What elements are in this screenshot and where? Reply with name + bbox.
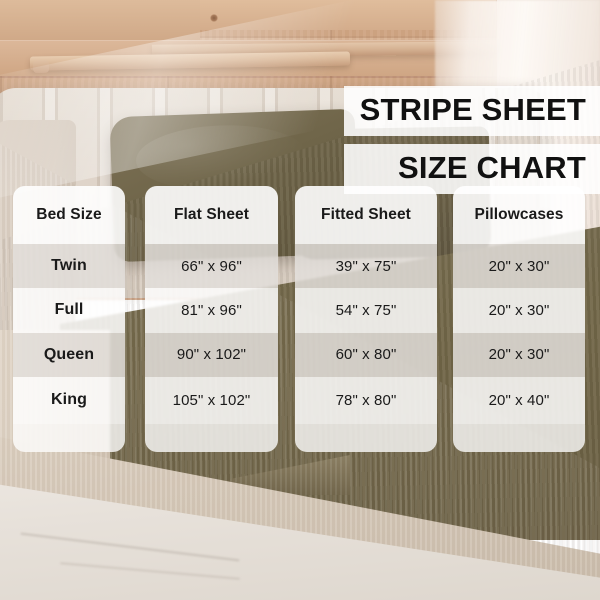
- size-chart-table: Bed Size Twin Full Queen King Flat Sheet…: [13, 186, 585, 452]
- column-flat-sheet: Flat Sheet 66" x 96" 81" x 96" 90" x 102…: [145, 186, 278, 452]
- table-row: King: [13, 377, 125, 424]
- table-cell: 20" x 30": [453, 333, 585, 377]
- table-cell: 54" x 75": [295, 288, 437, 332]
- column-header-pillowcases: Pillowcases: [453, 186, 585, 244]
- column-header-bed-size: Bed Size: [13, 186, 125, 244]
- column-pillowcases: Pillowcases 20" x 30" 20" x 30" 20" x 30…: [453, 186, 585, 452]
- wood-knot: [210, 14, 218, 22]
- table-row: Twin: [13, 244, 125, 288]
- table-cell: 39" x 75": [295, 244, 437, 288]
- title-block: STRIPE SHEET SIZE CHART: [344, 86, 600, 194]
- title-line-2: SIZE CHART: [344, 144, 600, 194]
- column-header-flat-sheet: Flat Sheet: [145, 186, 278, 244]
- column-bed-size: Bed Size Twin Full Queen King: [13, 186, 125, 452]
- table-cell: 66" x 96": [145, 244, 278, 288]
- table-cell: 78" x 80": [295, 377, 437, 424]
- wood-ledge-end-cap: [33, 60, 49, 73]
- table-cell: 81" x 96": [145, 288, 278, 332]
- wood-plank-top-left: [0, 0, 200, 40]
- table-cell: 20" x 30": [453, 288, 585, 332]
- table-row: Full: [13, 288, 125, 332]
- table-cell: 20" x 30": [453, 244, 585, 288]
- table-row: Queen: [13, 333, 125, 377]
- table-cell: 20" x 40": [453, 377, 585, 424]
- table-cell: 105" x 102": [145, 377, 278, 424]
- table-cell: 60" x 80": [295, 333, 437, 377]
- table-cell: 90" x 102": [145, 333, 278, 377]
- column-fitted-sheet: Fitted Sheet 39" x 75" 54" x 75" 60" x 8…: [295, 186, 437, 452]
- title-line-1: STRIPE SHEET: [344, 86, 600, 136]
- column-header-fitted-sheet: Fitted Sheet: [295, 186, 437, 244]
- size-chart-image: STRIPE SHEET SIZE CHART Bed Size Twin Fu…: [0, 0, 600, 600]
